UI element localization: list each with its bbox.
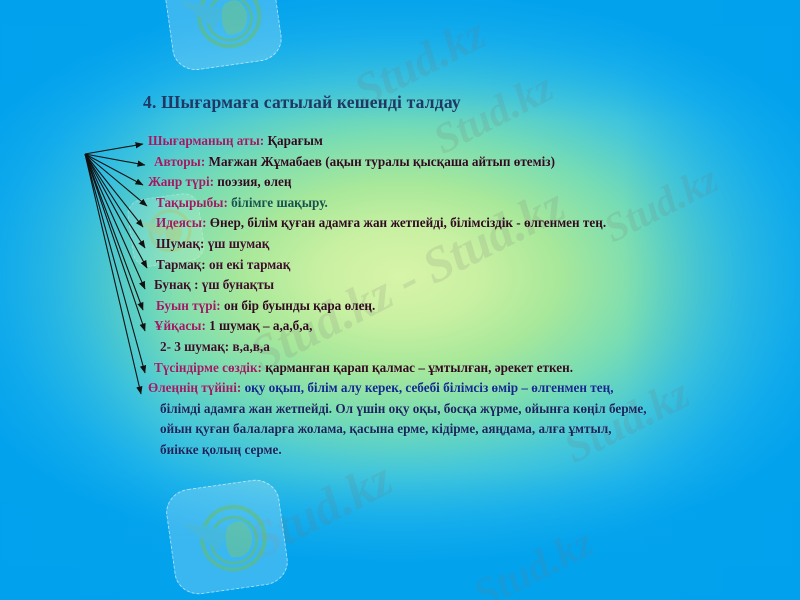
analysis-value: он бір буынды қара өлең. [221, 298, 376, 313]
analysis-label: Түсіндірме сөздік: [154, 360, 262, 375]
analysis-label: Авторы: [154, 154, 205, 169]
page-title: 4. Шығармаға сатылай кешенді талдау [143, 92, 461, 113]
analysis-label: Бунақ : [154, 277, 198, 292]
analysis-label: Ұйқасы: [154, 318, 206, 333]
analysis-value: қарманған қарап қалмас – ұмтылған, әреке… [262, 360, 573, 375]
list-item: Авторы: Мағжан Жұмабаев (ақын туралы қыс… [148, 152, 800, 173]
slide-canvas: Stud.kz Stud.kz Stud.kz - Stud.kz Stud.k… [0, 0, 800, 600]
analysis-value: үш бунақты [198, 277, 274, 292]
analysis-value: 2- 3 шумақ: в,а,в,а [160, 339, 270, 354]
continuation-line: ойын қуған балаларға жолама, қасына ерме… [148, 419, 800, 440]
list-item: Ұйқасы: 1 шумақ – а,а,б,а, [148, 316, 800, 337]
analysis-value: білімге шақыру. [228, 195, 328, 210]
list-item: 2- 3 шумақ: в,а,в,а [148, 337, 800, 358]
analysis-value: үш шумақ [204, 236, 269, 251]
continuation-line: биікке қолың серме. [148, 440, 800, 461]
analysis-value: он екі тармақ [206, 257, 291, 272]
analysis-label: Тармақ: [156, 257, 206, 272]
analysis-value: Қарағым [264, 133, 323, 148]
list-item: Тармақ: он екі тармақ [148, 255, 800, 276]
list-item: Түсіндірме сөздік: қарманған қарап қалма… [148, 358, 800, 379]
analysis-value: 1 шумақ – а,а,б,а, [206, 318, 313, 333]
analysis-label: Идеясы: [156, 215, 206, 230]
analysis-label: Тақырыбы: [156, 195, 228, 210]
continuation-line: білімді адамға жан жетпейді. Ол үшін оқу… [148, 399, 800, 420]
analysis-label: Жанр түрі: [148, 174, 214, 189]
list-item: Өлеңнің түйіні: оқу оқып, білім алу кере… [148, 378, 800, 399]
analysis-list: Шығарманың аты: Қарағым Авторы: Мағжан Ж… [148, 131, 800, 461]
analysis-value: поэзия, өлең [214, 174, 291, 189]
analysis-label: Шумақ: [156, 236, 204, 251]
analysis-value: Мағжан Жұмабаев (ақын туралы қысқаша айт… [205, 154, 555, 169]
analysis-label: Өлеңнің түйіні: [148, 380, 241, 395]
list-item: Шумақ: үш шумақ [148, 234, 800, 255]
analysis-label: Шығарманың аты: [148, 133, 264, 148]
list-item: Буын түрі: он бір буынды қара өлең. [148, 296, 800, 317]
list-item: Бунақ : үш бунақты [148, 275, 800, 296]
list-item: Тақырыбы: білімге шақыру. [148, 193, 800, 214]
analysis-value: оқу оқып, білім алу керек, себебі білімс… [241, 380, 613, 395]
analysis-label: Буын түрі: [156, 298, 221, 313]
list-item: Идеясы: Өнер, білім қуған адамға жан жет… [148, 213, 800, 234]
list-item: Жанр түрі: поэзия, өлең [148, 172, 800, 193]
analysis-value: Өнер, білім қуған адамға жан жетпейді, б… [206, 215, 606, 230]
list-item: Шығарманың аты: Қарағым [148, 131, 800, 152]
